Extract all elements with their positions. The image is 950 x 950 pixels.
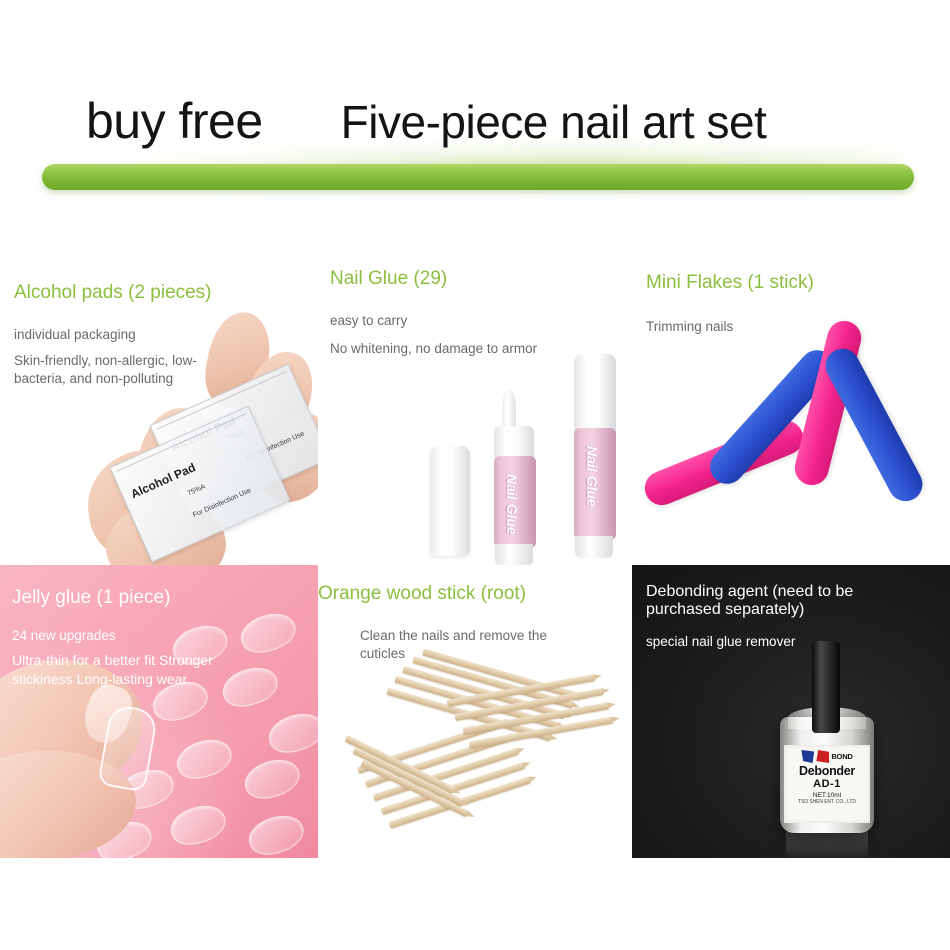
label-brand-text: BOND (831, 752, 852, 761)
panel-sub2-jelly-glue: Ultra-thin for a better fit Stronger sti… (12, 651, 213, 689)
brand-logo: BOND (784, 750, 870, 763)
panel-title-debonding-agent: Debonding agent (need to be purchased se… (646, 583, 853, 620)
panel-sub-nail-glue: easy to carry (330, 312, 407, 330)
page-title-right: Five-piece nail art set (341, 99, 767, 145)
panel-sub2-alcohol-pads: Skin-friendly, non-allergic, low- bacter… (14, 352, 197, 388)
label-company-text: TSO SHEN ENT. CO., LTD (784, 799, 870, 805)
panel-sub-mini-flakes: Trimming nails (646, 318, 733, 336)
sachet-strength-text: 75%A (187, 483, 207, 497)
bottle-cap (812, 641, 840, 733)
panel-title-alcohol-pads: Alcohol pads (2 pieces) (14, 282, 212, 304)
panel-jelly-glue[interactable]: Jelly glue (1 piece) 24 new upgrades Ult… (0, 565, 318, 858)
label-net-text: NET:10ml (784, 792, 870, 799)
page-title-left: buy free (86, 96, 263, 146)
product-panel-grid: Alcohol Pad 75%A For Disinfection Use Al… (0, 250, 950, 858)
panel-sub-jelly-glue: 24 new upgrades (12, 627, 116, 645)
pen-label-text: Nail Glue (584, 446, 600, 507)
panel-orange-wood-stick[interactable]: Orange wood stick (root) Clean the nails… (318, 565, 632, 858)
flag-blue-icon (801, 750, 814, 763)
pen-label-text: Nail Glue (504, 474, 520, 535)
panel-nail-glue[interactable]: Nail Glue Nail Glue Nail Glue (29) easy … (318, 250, 632, 565)
panel-title-orange-wood-stick: Orange wood stick (root) (318, 583, 526, 605)
label-main-text: Debonder (784, 764, 870, 778)
panel-title-mini-flakes: Mini Flakes (1 stick) (646, 272, 814, 294)
panel-sub-alcohol-pads: individual packaging (14, 326, 136, 344)
flag-red-icon (816, 750, 829, 763)
bottle-reflection (786, 831, 868, 858)
nail-glue-spare-cap (430, 446, 470, 556)
bottle-label: BOND Debonder AD-1 NET:10ml TSO SHEN ENT… (784, 745, 870, 823)
panel-debonding-agent[interactable]: BOND Debonder AD-1 NET:10ml TSO SHEN ENT… (632, 565, 950, 858)
panel-alcohol-pads[interactable]: Alcohol Pad 75%A For Disinfection Use Al… (0, 250, 318, 565)
panel-mini-flakes[interactable]: Mini Flakes (1 stick) Trimming nails (632, 250, 950, 565)
panel-title-nail-glue: Nail Glue (29) (330, 268, 447, 290)
nail-glue-pen: Nail Glue (566, 354, 626, 565)
panel-sub-orange-wood-stick: Clean the nails and remove the cuticles (360, 627, 547, 663)
panel-sub2-nail-glue: No whitening, no damage to armor (330, 340, 537, 358)
header-title-row: buy free Five-piece nail art set (0, 96, 950, 146)
sachet-name-text: Alcohol Pad (129, 460, 198, 501)
nail-glue-pen: Nail Glue (486, 390, 546, 565)
label-code-text: AD-1 (784, 778, 870, 790)
panel-title-jelly-glue: Jelly glue (1 piece) (12, 587, 170, 609)
header-green-bar (42, 164, 914, 190)
panel-sub-debonding-agent: special nail glue remover (646, 633, 795, 651)
page-header: buy free Five-piece nail art set (0, 0, 950, 215)
